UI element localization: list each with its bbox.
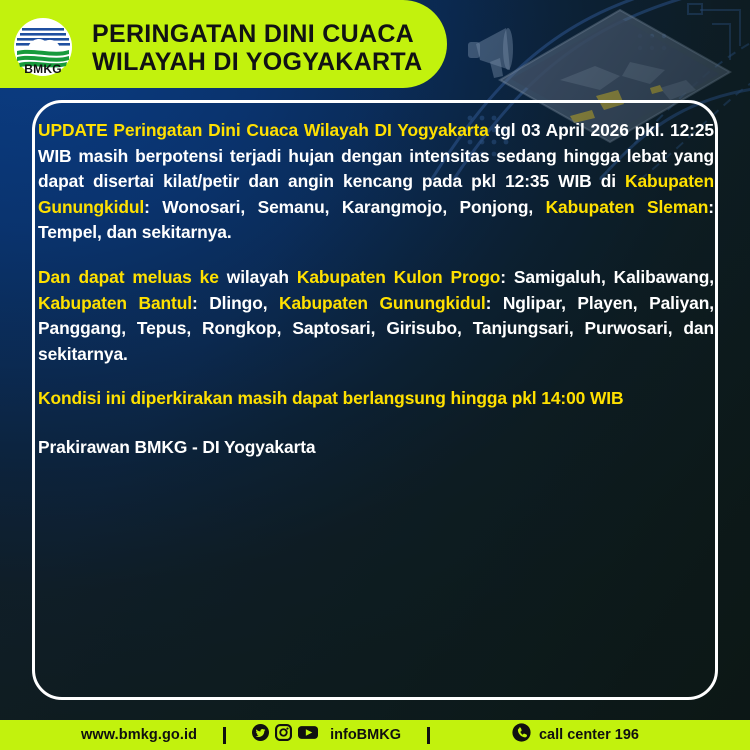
social-handle[interactable]: infoBMKG	[330, 727, 401, 743]
call-center-group: call center 196	[512, 723, 639, 747]
page-title: PERINGATAN DINI CUACA WILAYAH DI YOGYAKA…	[92, 20, 442, 76]
p2-lead: Dan dapat meluas ke	[38, 267, 219, 287]
youtube-icon[interactable]	[298, 724, 318, 746]
p1-districts-gunungkidul: : Wonosari, Semanu, Karangmojo, Ponjong,	[144, 197, 545, 217]
p2-wilayah: wilayah	[219, 267, 297, 287]
paragraph-4-signature: Prakirawan BMKG - DI Yogyakarta	[38, 435, 714, 461]
social-links: infoBMKG	[252, 724, 401, 746]
p2-districts-kulonprogo: : Samigaluh, Kalibawang,	[500, 267, 714, 287]
p2-regency-bantul: Kabupaten Bantul	[38, 293, 192, 313]
p2-regency-gunungkidul: Kabupaten Gunungkidul	[279, 293, 486, 313]
footer-divider-left	[223, 727, 226, 744]
page-title-line2: WILAYAH DI YOGYAKARTA	[92, 48, 442, 76]
p2-regency-kulonprogo: Kabupaten Kulon Progo	[297, 267, 500, 287]
page-title-line1: PERINGATAN DINI CUACA	[92, 20, 414, 48]
paragraph-3-duration: Kondisi ini diperkirakan masih dapat ber…	[38, 386, 714, 412]
p1-regency-sleman: Kabupaten Sleman	[546, 197, 709, 217]
footer-divider-right	[427, 727, 430, 744]
bmkg-logo-caption: BMKG	[12, 62, 74, 76]
paragraph-1: UPDATE Peringatan Dini Cuaca Wilayah DI …	[38, 118, 714, 246]
twitter-icon[interactable]	[252, 724, 269, 746]
phone-icon	[512, 723, 531, 747]
weather-warning-poster: BMKG PERINGATAN DINI CUACA WILAYAH DI YO…	[0, 0, 750, 750]
megaphone-icon	[468, 28, 513, 78]
call-center-text: call center 196	[539, 727, 639, 743]
p2-districts-bantul: : Dlingo,	[192, 293, 279, 313]
website-link[interactable]: www.bmkg.go.id	[81, 727, 197, 743]
footer-bar: www.bmkg.go.id infoBMKG call center 196	[0, 720, 750, 750]
instagram-icon[interactable]	[275, 724, 292, 746]
warning-message: UPDATE Peringatan Dini Cuaca Wilayah DI …	[38, 118, 714, 461]
paragraph-2: Dan dapat meluas ke wilayah Kabupaten Ku…	[38, 265, 714, 367]
p1-headline: UPDATE Peringatan Dini Cuaca Wilayah DI …	[38, 120, 489, 140]
